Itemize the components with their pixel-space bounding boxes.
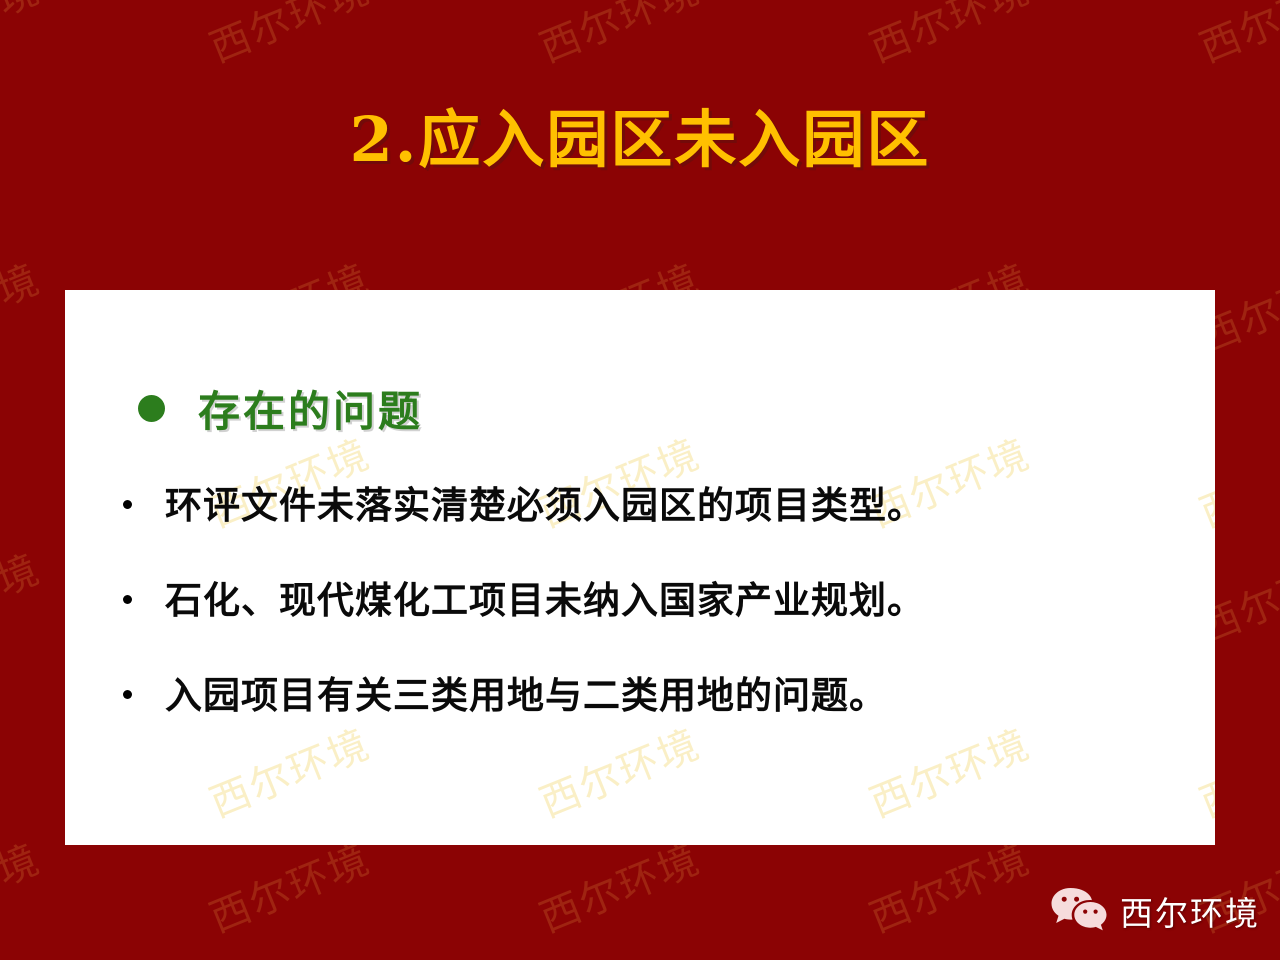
bullet-item-label: 入园项目有关三类用地与二类用地的问题。 [165,665,887,719]
bullet-dot-icon [123,595,132,604]
section-heading: 存在的问题 [138,378,423,439]
slide-canvas: 西尔环境西尔环境西尔环境西尔环境西尔环境西尔环境西尔环境西尔环境西尔环境西尔环境… [0,0,1280,960]
slide-title: 2.应入园区未入园区 [0,104,1280,175]
watermark-text: 西尔环境 [0,537,47,654]
watermark-text: 西尔环境 [860,0,1037,74]
watermark-text: 西尔环境 [0,0,47,74]
watermark-text: 西尔环境 [0,827,47,944]
section-heading-label: 存在的问题 [198,378,423,439]
watermark-text: 西尔环境 [200,0,377,74]
bullet-item-label: 石化、现代煤化工项目未纳入国家产业规划。 [165,570,925,624]
wechat-icon [1050,886,1108,936]
bullet-dot-icon [123,500,132,509]
bullet-item: 入园项目有关三类用地与二类用地的问题。 [123,665,887,719]
watermark-text: 西尔环境 [530,0,707,74]
bullet-item: 环评文件未落实清楚必须入园区的项目类型。 [123,475,925,529]
brand-name-label: 西尔环境 [1120,887,1260,935]
bullet-item-label: 环评文件未落实清楚必须入园区的项目类型。 [165,475,925,529]
content-panel: 西尔环境西尔环境西尔环境西尔环境西尔环境西尔环境西尔环境西尔环境西尔环境西尔环境… [65,290,1215,845]
heading-bullet-icon [138,395,165,422]
bullet-dot-icon [123,690,132,699]
bullet-item: 石化、现代煤化工项目未纳入国家产业规划。 [123,570,925,624]
footer-brand: 西尔环境 [1050,886,1260,936]
watermark-text: 西尔环境 [0,247,47,364]
watermark-text: 西尔环境 [1190,0,1280,74]
